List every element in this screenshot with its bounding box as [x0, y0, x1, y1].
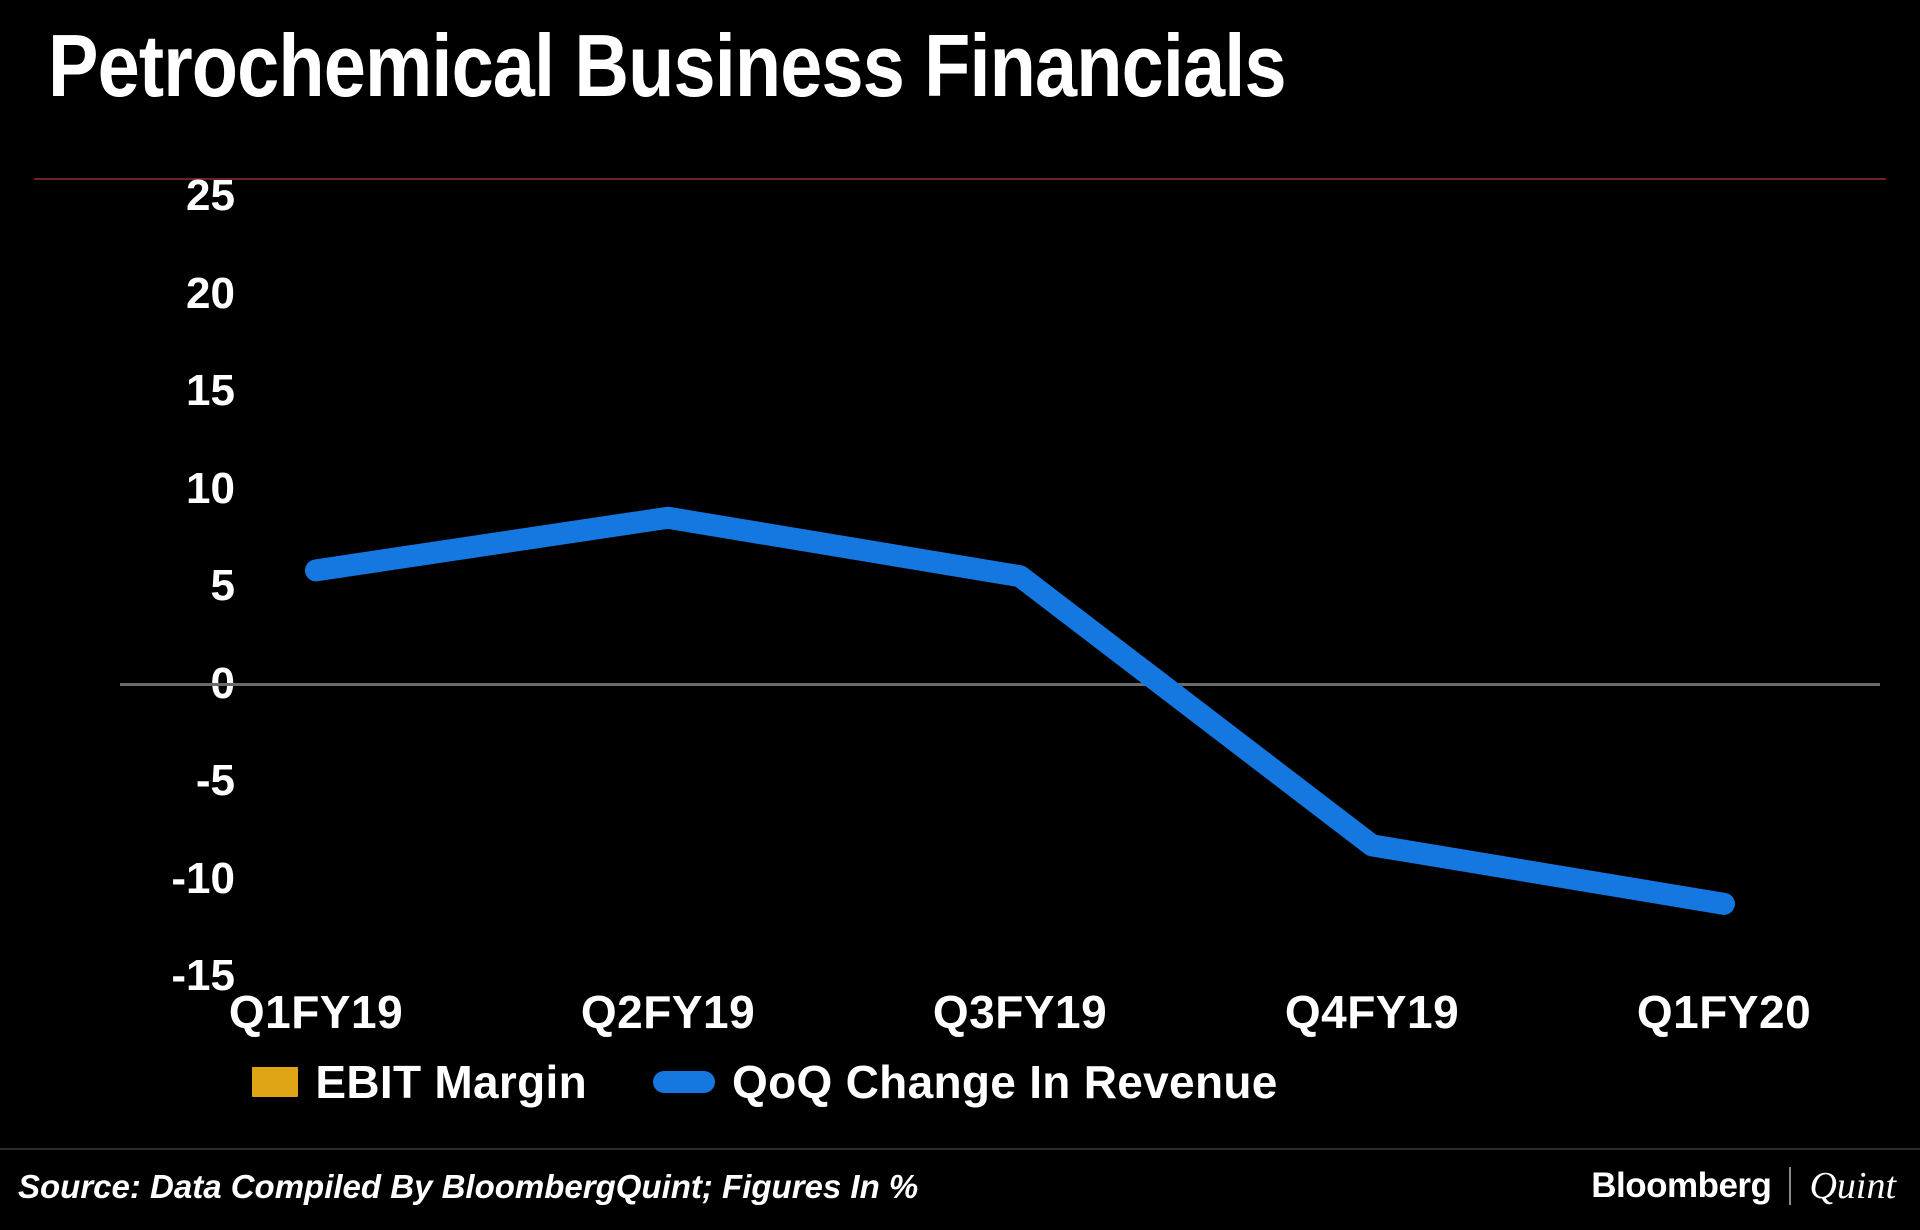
chart-page: Petrochemical Business Financials 252015…	[0, 0, 1920, 1230]
legend-label: EBIT Margin	[315, 1055, 587, 1109]
source-note: Source: Data Compiled By BloombergQuint;…	[18, 1168, 918, 1206]
legend-item-2[interactable]: QoQ Change In Revenue	[653, 1055, 1278, 1109]
brand-separator	[1789, 1167, 1791, 1205]
footer-divider	[0, 1148, 1920, 1150]
title-divider	[34, 178, 1886, 180]
legend-item-1[interactable]: EBIT Margin	[252, 1055, 587, 1109]
legend-label: QoQ Change In Revenue	[732, 1055, 1278, 1109]
brand-quint: Quint	[1809, 1164, 1896, 1208]
chart-legend: EBIT MarginQoQ Change In Revenue	[0, 1055, 1530, 1109]
legend-bar-swatch-icon	[252, 1067, 298, 1097]
x-axis-label-Q2FY19: Q2FY19	[581, 985, 755, 1039]
x-axis-label-Q1FY19: Q1FY19	[229, 985, 403, 1039]
x-axis-label-Q1FY20: Q1FY20	[1637, 985, 1811, 1039]
plot-area: 2520151050-5-10-15	[140, 196, 1900, 976]
page-title: Petrochemical Business Financials	[48, 22, 1286, 110]
brand-bloomberg: Bloomberg	[1591, 1166, 1771, 1206]
legend-line-swatch-icon	[653, 1071, 715, 1093]
brand-logo: Bloomberg Quint	[1591, 1164, 1896, 1208]
bar-series	[140, 196, 1900, 976]
x-axis-label-Q4FY19: Q4FY19	[1285, 985, 1459, 1039]
x-axis-label-Q3FY19: Q3FY19	[933, 985, 1107, 1039]
x-axis-labels: Q1FY19Q2FY19Q3FY19Q4FY19Q1FY20	[140, 985, 1900, 1045]
